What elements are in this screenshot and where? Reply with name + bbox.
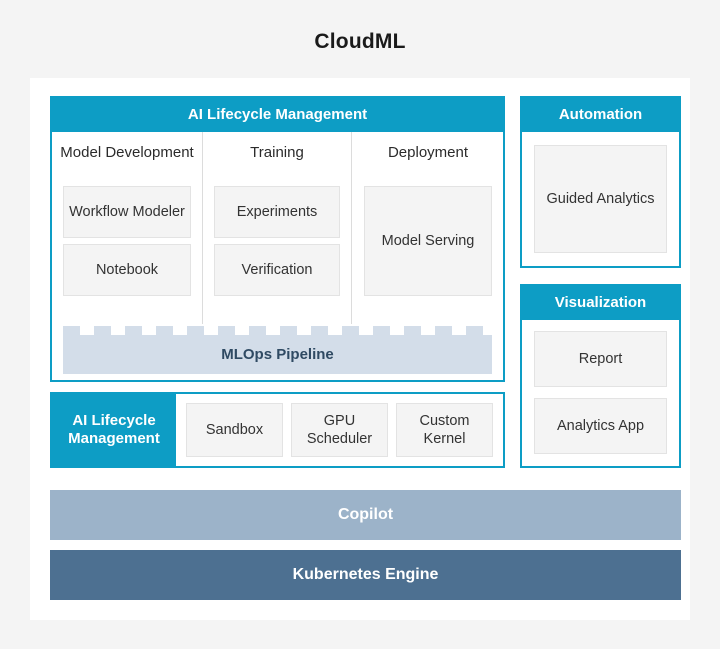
column-title-deployment: Deployment	[353, 132, 503, 186]
tile-model-serving[interactable]: Model Serving	[364, 186, 492, 296]
lifecycle-strip[interactable]: AI Lifecycle Management Sandbox GPU Sche…	[50, 392, 505, 468]
page-title: CloudML	[0, 30, 720, 54]
column-title-model-development: Model Development	[52, 132, 202, 186]
diagram-card: AI Lifecycle Management Model Developmen…	[30, 78, 690, 620]
lifecycle-column-model-development: Model Development Workflow Modeler Noteb…	[52, 132, 202, 324]
tile-gpu-scheduler[interactable]: GPU Scheduler	[291, 403, 388, 457]
automation-panel[interactable]: Automation Guided Analytics	[520, 96, 681, 268]
lifecycle-panel-body: Model Development Workflow Modeler Noteb…	[52, 132, 503, 380]
column-tiles-deployment: Model Serving	[353, 186, 503, 296]
tile-sandbox[interactable]: Sandbox	[186, 403, 283, 457]
mlops-pipeline-bar[interactable]: MLOps Pipeline	[63, 326, 492, 374]
visualization-panel-header: Visualization	[522, 286, 679, 320]
automation-panel-header: Automation	[522, 98, 679, 132]
lifecycle-strip-tiles: Sandbox GPU Scheduler Custom Kernel	[176, 394, 503, 466]
copilot-bar[interactable]: Copilot	[50, 490, 681, 540]
tile-analytics-app[interactable]: Analytics App	[534, 398, 667, 454]
tile-notebook[interactable]: Notebook	[63, 244, 191, 296]
lifecycle-column-deployment: Deployment Model Serving	[353, 132, 503, 324]
lifecycle-panel-header: AI Lifecycle Management	[52, 98, 503, 132]
visualization-panel[interactable]: Visualization Report Analytics App	[520, 284, 681, 468]
kubernetes-engine-bar[interactable]: Kubernetes Engine	[50, 550, 681, 600]
lifecycle-column-training: Training Experiments Verification	[202, 132, 352, 324]
tile-guided-analytics[interactable]: Guided Analytics	[534, 145, 667, 253]
tile-custom-kernel[interactable]: Custom Kernel	[396, 403, 493, 457]
tile-report[interactable]: Report	[534, 331, 667, 387]
column-title-training: Training	[203, 132, 351, 186]
lifecycle-panel[interactable]: AI Lifecycle Management Model Developmen…	[50, 96, 505, 382]
tile-verification[interactable]: Verification	[214, 244, 340, 296]
column-tiles-training: Experiments Verification	[203, 186, 351, 296]
tile-workflow-modeler[interactable]: Workflow Modeler	[63, 186, 191, 238]
tile-experiments[interactable]: Experiments	[214, 186, 340, 238]
column-tiles-model-development: Workflow Modeler Notebook	[52, 186, 202, 296]
mlops-pipeline-label: MLOps Pipeline	[63, 335, 492, 374]
lifecycle-strip-label: AI Lifecycle Management	[52, 394, 176, 466]
architecture-diagram: CloudML AI Lifecycle Management Model De…	[0, 0, 720, 649]
